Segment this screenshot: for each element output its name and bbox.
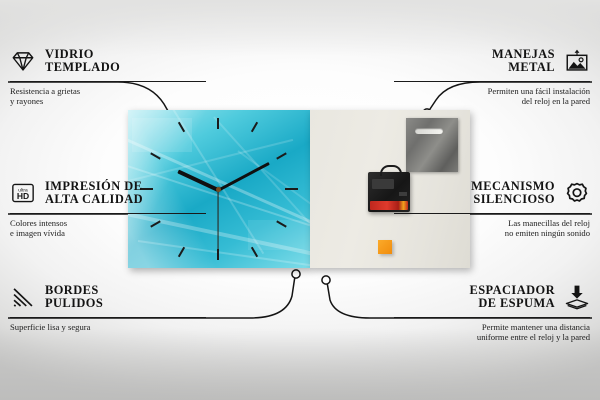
- title-underline: [394, 81, 590, 82]
- feature-description: Permiten una fácil instalación del reloj…: [394, 86, 590, 107]
- infographic-canvas: VIDRIO TEMPLADO Resistencia a grietas y …: [0, 0, 600, 400]
- hanger-keyhole-slot: [415, 128, 443, 134]
- title-underline: [10, 317, 206, 318]
- title-underline: [394, 317, 590, 318]
- feature-description: Permite mantener una distancia uniforme …: [394, 322, 590, 343]
- foam-spacer-icon: [564, 284, 590, 310]
- connector-dot-bordes: [292, 270, 300, 278]
- feature-description: Superficie lisa y segura: [10, 322, 206, 333]
- title-underline: [10, 213, 206, 214]
- feature-manejas-metal: MANEJAS METAL Permiten una fácil instala…: [394, 44, 590, 107]
- ultra-hd-badge-icon: ultra HD: [10, 180, 36, 206]
- feature-title: ESPACIADOR DE ESPUMA: [469, 284, 555, 310]
- diamond-icon: [10, 48, 36, 74]
- feature-description: Las manecillas del reloj no emiten ningú…: [394, 218, 590, 239]
- feature-title: MANEJAS METAL: [492, 48, 555, 74]
- feature-impresion-alta-calidad: ultra HD IMPRESIÓN DE ALTA CALIDAD Color…: [10, 176, 206, 239]
- feature-bordes-pulidos: BORDES PULIDOS Superficie lisa y segura: [10, 280, 206, 332]
- feature-title: BORDES PULIDOS: [45, 284, 103, 310]
- title-underline: [394, 213, 590, 214]
- polished-edges-icon: [10, 284, 36, 310]
- feature-title: MECANISMO SILENCIOSO: [471, 180, 555, 206]
- badge-large-text: HD: [17, 191, 29, 201]
- mechanism-panel-detail: [372, 179, 394, 189]
- feature-description: Colores intensos e imagen vívida: [10, 218, 206, 239]
- feature-title: IMPRESIÓN DE ALTA CALIDAD: [45, 180, 143, 206]
- gear-icon: [564, 180, 590, 206]
- connector-dot-espaciador: [322, 276, 330, 284]
- metal-hanger-plate: [406, 118, 458, 172]
- feature-vidrio-templado: VIDRIO TEMPLADO Resistencia a grietas y …: [10, 44, 206, 107]
- feature-title: VIDRIO TEMPLADO: [45, 48, 120, 74]
- feature-mecanismo-silencioso: MECANISMO SILENCIOSO Las manecillas del …: [394, 176, 590, 239]
- mechanism-hang-loop: [380, 165, 402, 176]
- feature-espaciador-espuma: ESPACIADOR DE ESPUMA Permite mantener un…: [394, 280, 590, 343]
- picture-hanger-icon: [564, 48, 590, 74]
- foam-spacer-pad: [378, 240, 392, 254]
- clock-hand-minute: [217, 161, 270, 191]
- title-underline: [10, 81, 206, 82]
- clock-hand-second: [217, 190, 218, 252]
- feature-description: Resistencia a grietas y rayones: [10, 86, 206, 107]
